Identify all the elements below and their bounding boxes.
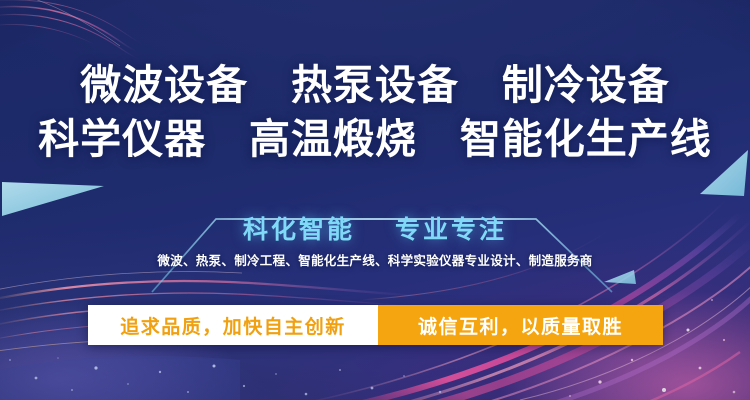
headline-l1-part-3: 制冷设备 [502, 62, 670, 108]
headline-l2-part-3: 智能化生产线 [460, 116, 712, 162]
promo-banner: 微波设备 热泵设备 制冷设备 科学仪器 高温煅烧 智能化生产线 科化智能 专业专… [0, 0, 750, 400]
middle-slogan: 科化智能 专业专注 [0, 213, 750, 247]
headline-l1-part-1: 微波设备 [80, 62, 248, 108]
slogan-quality: 追求品质，加快自主创新 [88, 305, 378, 345]
headline-l1-part-2: 热泵设备 [291, 62, 459, 108]
headline-line-1: 微波设备 热泵设备 制冷设备 [0, 58, 750, 112]
middle-subtitle: 微波、热泵、制冷工程、智能化生产线、科学实验仪器专业设计、制造服务商 [0, 251, 750, 271]
headline-line-2: 科学仪器 高温煅烧 智能化生产线 [0, 112, 750, 166]
slogan-bar-group: 追求品质，加快自主创新 诚信互利，以质量取胜 [88, 305, 663, 345]
middle-slogan-part-2: 专业专注 [395, 216, 507, 244]
middle-slogan-block: 科化智能 专业专注 微波、热泵、制冷工程、智能化生产线、科学实验仪器专业设计、制… [0, 213, 750, 271]
slogan-integrity: 诚信互利，以质量取胜 [378, 305, 663, 345]
headline-l2-part-1: 科学仪器 [38, 116, 206, 162]
middle-slogan-part-1: 科化智能 [243, 216, 355, 244]
headline-l2-part-2: 高温煅烧 [249, 116, 417, 162]
headline: 微波设备 热泵设备 制冷设备 科学仪器 高温煅烧 智能化生产线 [0, 58, 750, 166]
